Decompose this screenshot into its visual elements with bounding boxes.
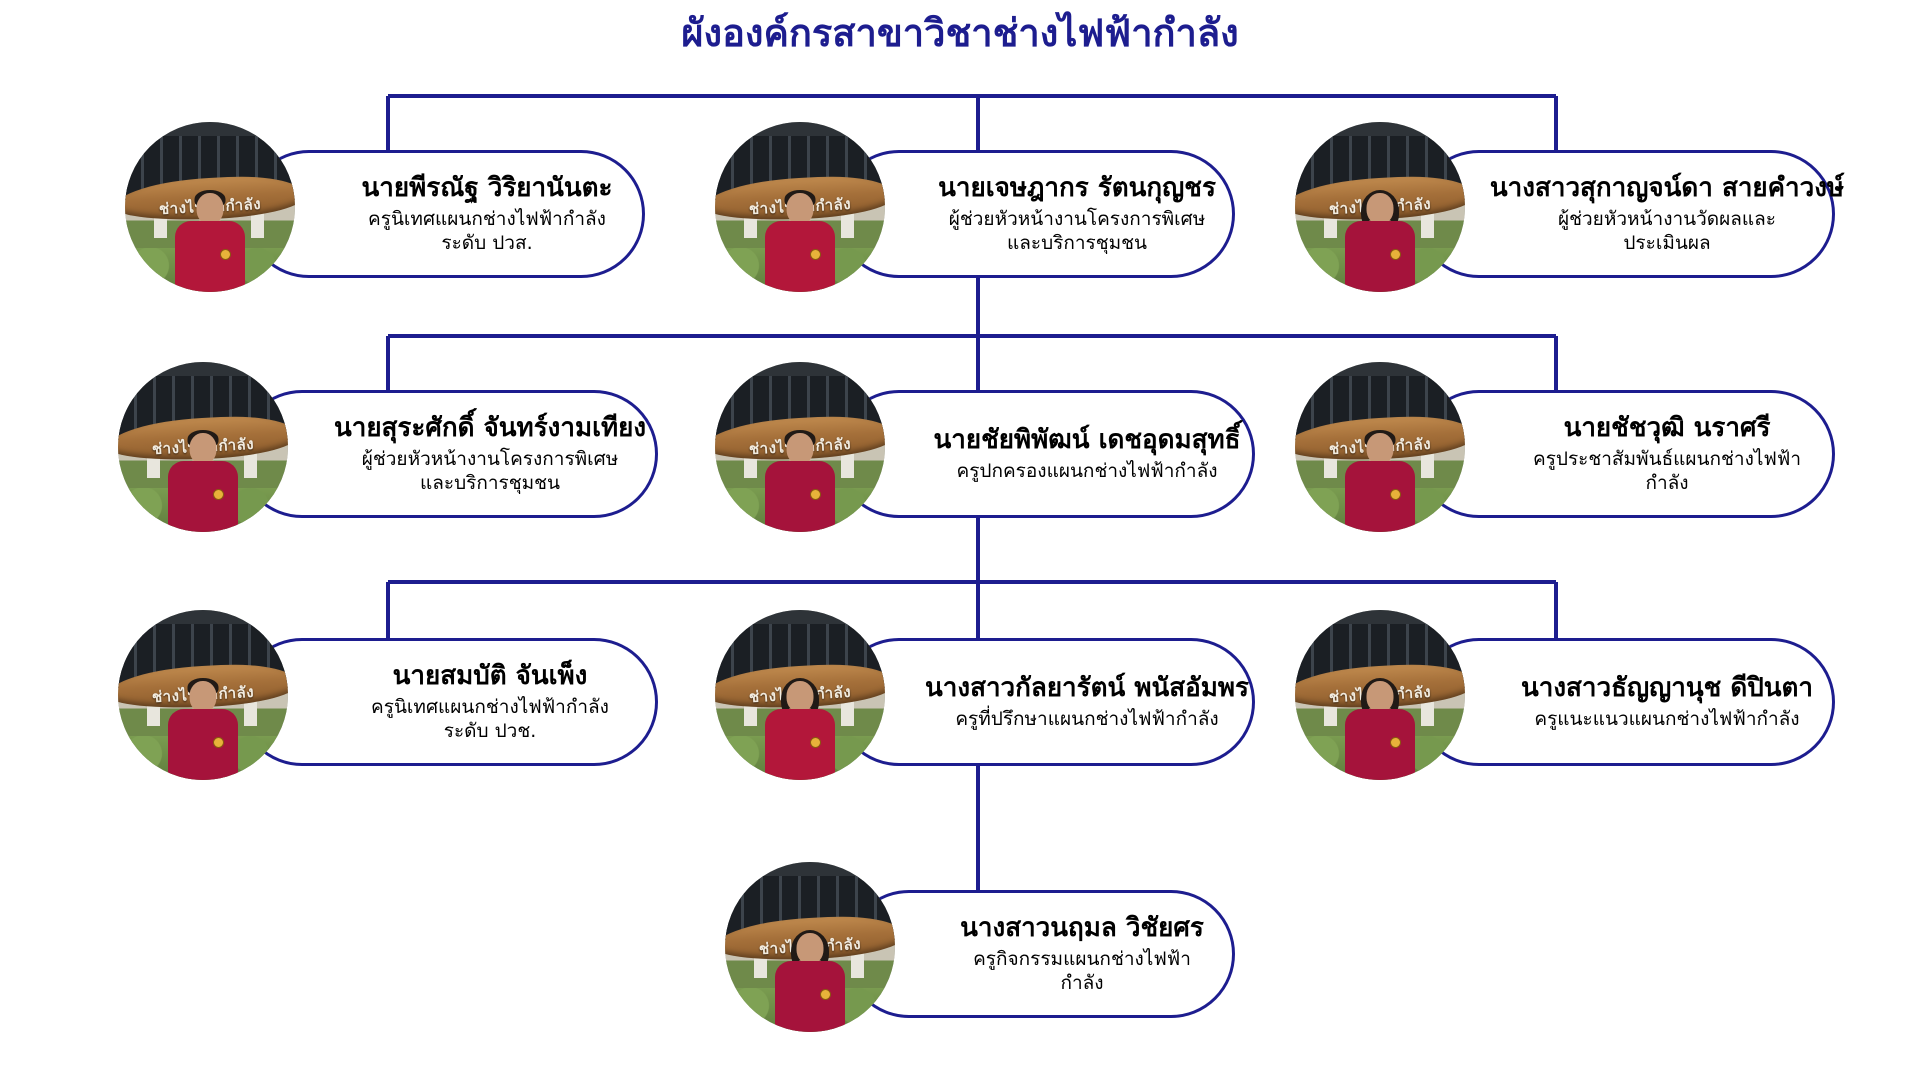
avatar-photo-6: ช่างไฟฟ้ากำลัง	[1295, 362, 1465, 532]
org-chart-canvas: ผังองค์กรสาขาวิชาช่างไฟฟ้ากำลัง	[0, 0, 1920, 1080]
avatar-photo-5: ช่างไฟฟ้ากำลัง	[715, 362, 885, 532]
node-name-9: นางสาวธัญญานุช ดีปินตา	[1521, 672, 1813, 705]
org-node-card-8[interactable]: นางสาวกัลยารัตน์ พนัสอัมพร ครูที่ปรึกษาแ…	[835, 638, 1255, 766]
node-role-2: ผู้ช่วยหัวหน้างานโครงการพิเศษ และบริการช…	[949, 207, 1206, 256]
org-node-card-1[interactable]: นายพีรณัฐ วิริยานันตะ ครูนิเทศแผนกช่างไฟ…	[245, 150, 645, 278]
node-role-6: ครูประชาสัมพันธ์แผนกช่างไฟฟ้ากำลัง	[1528, 447, 1806, 496]
org-node-1[interactable]: ช่างไฟฟ้ากำลัง นายพีรณัฐ วิริยานันตะ ครู…	[125, 150, 645, 278]
org-node-8[interactable]: ช่างไฟฟ้ากำลัง นางสาวกัลยารัตน์ พนัสอัมพ…	[715, 638, 1255, 766]
org-node-6[interactable]: ช่างไฟฟ้ากำลัง นายชัชวุฒิ นราศรี ครูประช…	[1295, 390, 1835, 518]
avatar-photo-4: ช่างไฟฟ้ากำลัง	[118, 362, 288, 532]
node-name-4: นายสุระศักดิ์ จันทร์งามเทียง	[334, 412, 646, 445]
org-node-card-2[interactable]: นายเจษฎากร รัตนกุญชร ผู้ช่วยหัวหน้างานโค…	[835, 150, 1235, 278]
org-node-9[interactable]: ช่างไฟฟ้ากำลัง นางสาวธัญญานุช ดีปินตา คร…	[1295, 638, 1835, 766]
org-node-card-9[interactable]: นางสาวธัญญานุช ดีปินตา ครูแนะแนวแผนกช่าง…	[1415, 638, 1835, 766]
node-role-7: ครูนิเทศแผนกช่างไฟฟ้ากำลัง ระดับ ปวช.	[351, 695, 629, 744]
node-name-7: นายสมบัติ จันเพ็ง	[393, 660, 588, 693]
org-node-4[interactable]: ช่างไฟฟ้ากำลัง นายสุระศักดิ์ จันทร์งามเท…	[118, 390, 658, 518]
node-name-1: นายพีรณัฐ วิริยานันตะ	[361, 172, 612, 205]
org-node-7[interactable]: ช่างไฟฟ้ากำลัง นายสมบัติ จันเพ็ง ครูนิเท…	[118, 638, 658, 766]
node-name-3: นางสาวสุกาญจน์ดา สายคำวงษ์	[1490, 172, 1844, 205]
avatar-photo-1: ช่างไฟฟ้ากำลัง	[125, 122, 295, 292]
page-title: ผังองค์กรสาขาวิชาช่างไฟฟ้ากำลัง	[0, 10, 1920, 58]
org-node-card-7[interactable]: นายสมบัติ จันเพ็ง ครูนิเทศแผนกช่างไฟฟ้าก…	[238, 638, 658, 766]
node-role-1: ครูนิเทศแผนกช่างไฟฟ้ากำลัง ระดับ ปวส.	[358, 207, 616, 256]
avatar-photo-8: ช่างไฟฟ้ากำลัง	[715, 610, 885, 780]
org-node-2[interactable]: ช่างไฟฟ้ากำลัง นายเจษฎากร รัตนกุญชร ผู้ช…	[715, 150, 1235, 278]
org-node-3[interactable]: ช่างไฟฟ้ากำลัง นางสาวสุกาญจน์ดา สายคำวงษ…	[1295, 150, 1835, 278]
node-name-10: นางสาวนฤมล วิชัยศร	[960, 912, 1204, 945]
node-name-5: นายชัยพิพัฒน์ เดชอุดมสุทธิ์	[934, 424, 1241, 457]
avatar-photo-7: ช่างไฟฟ้ากำลัง	[118, 610, 288, 780]
avatar-photo-2: ช่างไฟฟ้ากำลัง	[715, 122, 885, 292]
node-name-8: นางสาวกัลยารัตน์ พนัสอัมพร	[925, 672, 1249, 705]
org-node-card-4[interactable]: นายสุระศักดิ์ จันทร์งามเทียง ผู้ช่วยหัวห…	[238, 390, 658, 518]
avatar-photo-9: ช่างไฟฟ้ากำลัง	[1295, 610, 1465, 780]
avatar-photo-10: ช่างไฟฟ้ากำลัง	[725, 862, 895, 1032]
node-role-4: ผู้ช่วยหัวหน้างานโครงการพิเศษ และบริการช…	[362, 447, 619, 496]
node-role-3: ผู้ช่วยหัวหน้างานวัดผลและประเมินผล	[1528, 207, 1806, 256]
org-node-card-10[interactable]: นางสาวนฤมล วิชัยศร ครูกิจกรรมแผนกช่างไฟฟ…	[845, 890, 1235, 1018]
avatar-photo-3: ช่างไฟฟ้ากำลัง	[1295, 122, 1465, 292]
org-node-card-3[interactable]: นางสาวสุกาญจน์ดา สายคำวงษ์ ผู้ช่วยหัวหน้…	[1415, 150, 1835, 278]
node-name-2: นายเจษฎากร รัตนกุญชร	[938, 172, 1216, 205]
org-node-card-5[interactable]: นายชัยพิพัฒน์ เดชอุดมสุทธิ์ ครูปกครองแผน…	[835, 390, 1255, 518]
node-role-8: ครูที่ปรึกษาแผนกช่างไฟฟ้ากำลัง	[955, 707, 1218, 732]
org-node-5[interactable]: ช่างไฟฟ้ากำลัง นายชัยพิพัฒน์ เดชอุดมสุทธ…	[715, 390, 1255, 518]
org-node-10[interactable]: ช่างไฟฟ้ากำลัง นางสาวนฤมล วิชัยศร ครูกิจ…	[725, 890, 1235, 1018]
org-node-card-6[interactable]: นายชัชวุฒิ นราศรี ครูประชาสัมพันธ์แผนกช่…	[1415, 390, 1835, 518]
node-role-9: ครูแนะแนวแผนกช่างไฟฟ้ากำลัง	[1534, 707, 1799, 732]
node-name-6: นายชัชวุฒิ นราศรี	[1564, 412, 1771, 445]
node-role-5: ครูปกครองแผนกช่างไฟฟ้ากำลัง	[956, 459, 1217, 484]
node-role-10: ครูกิจกรรมแผนกช่างไฟฟ้ากำลัง	[958, 947, 1206, 996]
